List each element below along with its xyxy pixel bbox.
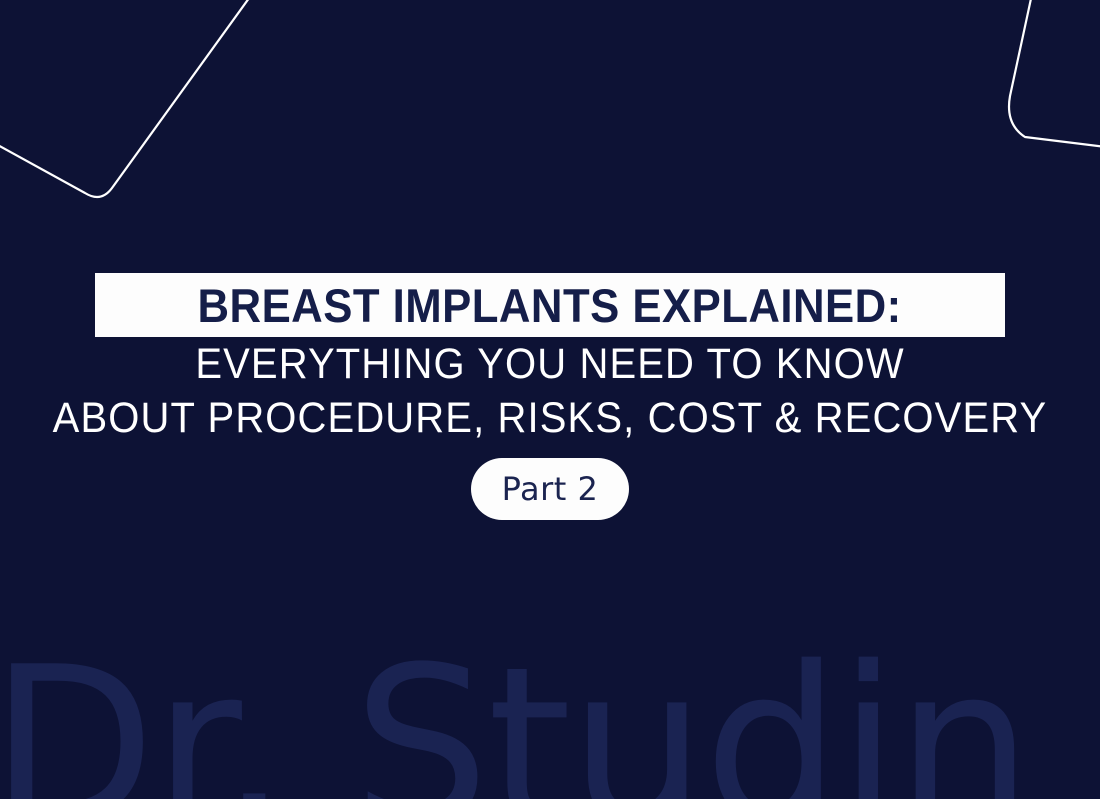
part-badge-label: Part 2 bbox=[502, 473, 599, 505]
part-badge: Part 2 bbox=[471, 458, 629, 520]
page-title: BREAST IMPLANTS EXPLAINED: bbox=[95, 273, 1005, 337]
subtitle-line-2: ABOUT PROCEDURE, RISKS, COST & RECOVERY bbox=[39, 396, 1062, 440]
poster-canvas: Dr. Studin BREAST IMPLANTS EXPLAINED: EV… bbox=[0, 0, 1100, 799]
subtitle-line-1: EVERYTHING YOU NEED TO KNOW bbox=[39, 342, 1062, 386]
page-title-text: BREAST IMPLANTS EXPLAINED: bbox=[198, 282, 902, 329]
poster-content: BREAST IMPLANTS EXPLAINED: EVERYTHING YO… bbox=[0, 0, 1100, 799]
